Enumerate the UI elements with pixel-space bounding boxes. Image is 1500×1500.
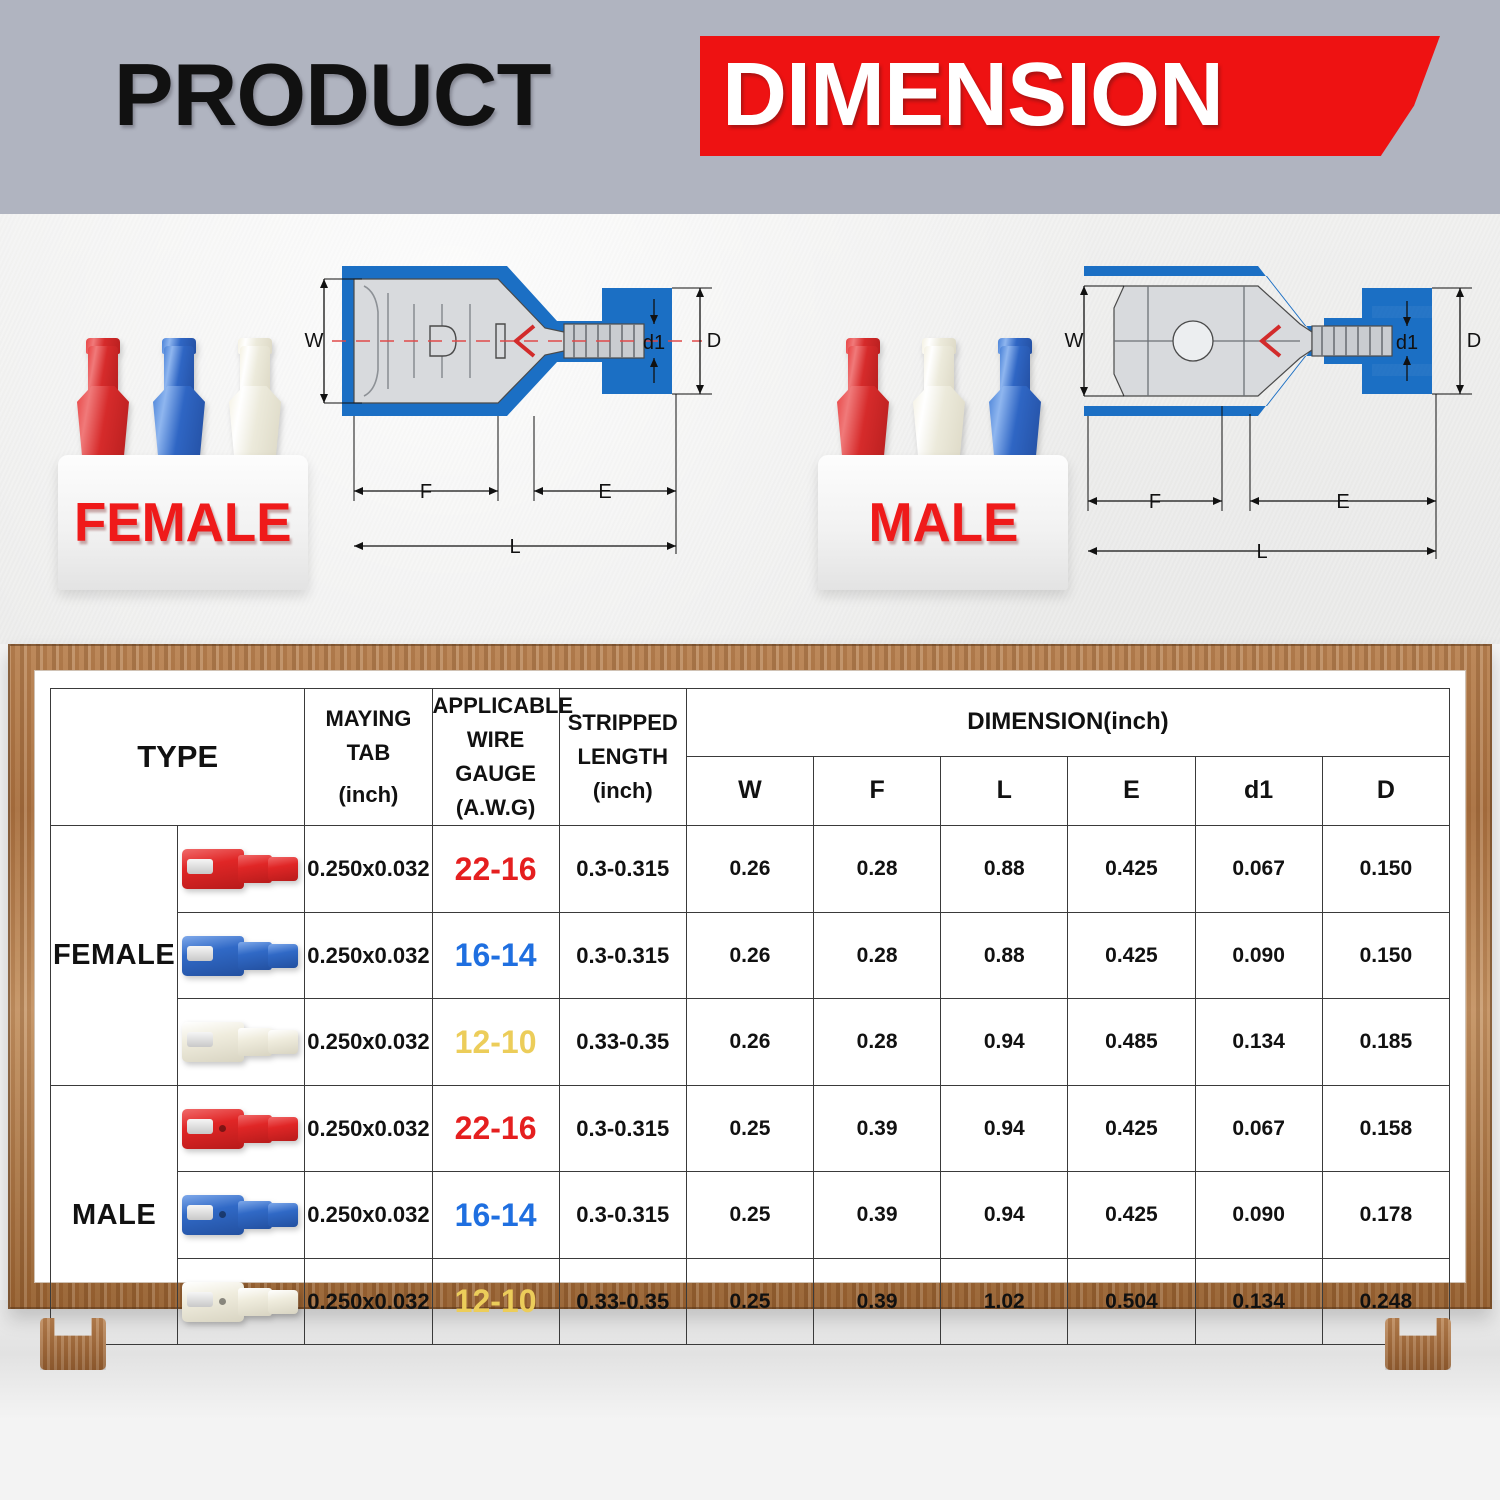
cell-wire-gauge: 12-10 — [432, 999, 559, 1086]
group-label-male: MALE — [51, 1085, 178, 1345]
female-pedestal: FEMALE — [58, 455, 308, 590]
frame-inner-mat: TYPE MAYING TAB (inch) APPLICABLE WIRE G… — [34, 670, 1466, 1283]
cell-maying-tab: 0.250x0.032 — [305, 1258, 432, 1345]
table-body: FEMALE0.250x0.03222-160.3-0.3150.260.280… — [51, 826, 1450, 1345]
cell-dim-w: 0.26 — [686, 912, 813, 999]
connector-thumbnail-blue — [178, 1172, 305, 1259]
header-sub-d: D — [1322, 756, 1449, 826]
connector-thumbnail-red — [178, 826, 305, 913]
svg-text:L: L — [1256, 541, 1267, 563]
header-sub-w: W — [686, 756, 813, 826]
cell-dim-l: 0.94 — [941, 999, 1068, 1086]
male-connector-red — [835, 340, 891, 458]
cell-wire-gauge: 22-16 — [432, 826, 559, 913]
header-dimension-group: DIMENSION(inch) — [686, 689, 1449, 757]
connector-thumbnail-blue — [178, 912, 305, 999]
header-stripped-line3: (inch) — [560, 774, 686, 808]
header-stripped-length: STRIPPED LENGTH (inch) — [559, 689, 686, 826]
header-maying-tab-line1: MAYING TAB — [305, 702, 431, 770]
cell-dim-e: 0.425 — [1068, 912, 1195, 999]
header-stripped-line2: LENGTH — [560, 740, 686, 774]
cell-maying-tab: 0.250x0.032 — [305, 1085, 432, 1172]
cell-stripped-length: 0.33-0.35 — [559, 999, 686, 1086]
cell-dim-w: 0.25 — [686, 1085, 813, 1172]
cell-wire-gauge: 12-10 — [432, 1258, 559, 1345]
dimension-table: TYPE MAYING TAB (inch) APPLICABLE WIRE G… — [50, 688, 1450, 1345]
cell-dim-d1: 0.134 — [1195, 999, 1322, 1086]
svg-text:D: D — [1467, 330, 1481, 352]
cell-dim-d: 0.178 — [1322, 1172, 1449, 1259]
cell-maying-tab: 0.250x0.032 — [305, 826, 432, 913]
header-wire-gauge-line3: (A.W.G) — [433, 791, 559, 825]
svg-text:L: L — [509, 536, 520, 558]
male-pedestal-label: MALE — [868, 491, 1018, 554]
cell-dim-w: 0.25 — [686, 1258, 813, 1345]
cell-dim-d: 0.185 — [1322, 999, 1449, 1086]
wooden-frame: TYPE MAYING TAB (inch) APPLICABLE WIRE G… — [8, 644, 1492, 1309]
cell-dim-d: 0.150 — [1322, 826, 1449, 913]
cell-stripped-length: 0.33-0.35 — [559, 1258, 686, 1345]
cell-dim-d: 0.150 — [1322, 912, 1449, 999]
header-sub-f: F — [814, 756, 941, 826]
header-maying-tab: MAYING TAB (inch) — [305, 689, 432, 826]
cell-dim-f: 0.28 — [814, 999, 941, 1086]
male-pedestal: MALE — [818, 455, 1068, 590]
cell-dim-d1: 0.090 — [1195, 912, 1322, 999]
cell-maying-tab: 0.250x0.032 — [305, 1172, 432, 1259]
header-sub-l: L — [941, 756, 1068, 826]
header-maying-tab-line2: (inch) — [305, 778, 431, 812]
cell-maying-tab: 0.250x0.032 — [305, 999, 432, 1086]
cell-stripped-length: 0.3-0.315 — [559, 1172, 686, 1259]
header-type: TYPE — [51, 689, 305, 826]
svg-text:D: D — [707, 330, 721, 352]
cell-dim-f: 0.39 — [814, 1085, 941, 1172]
cell-stripped-length: 0.3-0.315 — [559, 826, 686, 913]
cell-dim-f: 0.39 — [814, 1258, 941, 1345]
cell-dim-e: 0.425 — [1068, 1172, 1195, 1259]
product-dimension-infographic: PRODUCT DIMENSION FEMALE — [0, 0, 1500, 1500]
page-title-product: PRODUCT — [114, 44, 551, 146]
cell-stripped-length: 0.3-0.315 — [559, 912, 686, 999]
header-row-primary: TYPE MAYING TAB (inch) APPLICABLE WIRE G… — [51, 689, 1450, 757]
page-title-dimension: DIMENSION — [722, 44, 1223, 147]
male-connector-blue — [987, 340, 1043, 458]
header-wire-gauge: APPLICABLE WIRE GAUGE (A.W.G) — [432, 689, 559, 826]
cell-dim-w: 0.26 — [686, 999, 813, 1086]
male-connector-ivory — [911, 340, 967, 458]
table-row: FEMALE0.250x0.03222-160.3-0.3150.260.280… — [51, 826, 1450, 913]
svg-text:F: F — [420, 481, 432, 503]
header-banner: PRODUCT DIMENSION — [0, 0, 1500, 214]
svg-text:W: W — [1065, 330, 1084, 352]
cell-dim-w: 0.25 — [686, 1172, 813, 1259]
cell-dim-d1: 0.090 — [1195, 1172, 1322, 1259]
table-row: MALE0.250x0.03222-160.3-0.3150.250.390.9… — [51, 1085, 1450, 1172]
table-row: 0.250x0.03212-100.33-0.350.250.391.020.5… — [51, 1258, 1450, 1345]
header-stripped-line1: STRIPPED — [560, 706, 686, 740]
svg-text:E: E — [598, 481, 611, 503]
cell-dim-f: 0.28 — [814, 826, 941, 913]
cell-dim-d1: 0.067 — [1195, 826, 1322, 913]
cell-wire-gauge: 16-14 — [432, 1172, 559, 1259]
svg-text:F: F — [1149, 491, 1161, 513]
svg-text:d1: d1 — [1396, 332, 1418, 354]
header-sub-d1: d1 — [1195, 756, 1322, 826]
svg-text:E: E — [1336, 491, 1349, 513]
cell-dim-l: 0.94 — [941, 1172, 1068, 1259]
male-dimension-diagram: W d1 D F — [1062, 246, 1492, 596]
male-showcase-panel: MALE — [780, 230, 1500, 620]
cell-dim-e: 0.425 — [1068, 826, 1195, 913]
connector-thumbnail-ivory — [178, 1258, 305, 1345]
group-label-female: FEMALE — [51, 826, 178, 1086]
male-connector-group — [835, 340, 1043, 458]
cell-wire-gauge: 16-14 — [432, 912, 559, 999]
cell-dim-l: 1.02 — [941, 1258, 1068, 1345]
header-wire-gauge-line2: WIRE GAUGE — [433, 723, 559, 791]
cell-dim-l: 0.88 — [941, 826, 1068, 913]
cell-dim-f: 0.28 — [814, 912, 941, 999]
cell-dim-e: 0.485 — [1068, 999, 1195, 1086]
header-sub-e: E — [1068, 756, 1195, 826]
cell-dim-f: 0.39 — [814, 1172, 941, 1259]
table-header: TYPE MAYING TAB (inch) APPLICABLE WIRE G… — [51, 689, 1450, 826]
cell-dim-l: 0.94 — [941, 1085, 1068, 1172]
female-connector-ivory — [227, 340, 283, 458]
cell-dim-e: 0.504 — [1068, 1258, 1195, 1345]
table-row: 0.250x0.03212-100.33-0.350.260.280.940.4… — [51, 999, 1450, 1086]
female-connector-red — [75, 340, 131, 458]
cell-wire-gauge: 22-16 — [432, 1085, 559, 1172]
connector-thumbnail-ivory — [178, 999, 305, 1086]
female-connector-blue — [151, 340, 207, 458]
cell-dim-d1: 0.134 — [1195, 1258, 1322, 1345]
connector-thumbnail-red — [178, 1085, 305, 1172]
cell-dim-d1: 0.067 — [1195, 1085, 1322, 1172]
header-wire-gauge-line1: APPLICABLE — [433, 689, 559, 723]
svg-text:d1: d1 — [643, 332, 665, 354]
female-showcase-panel: FEMALE — [20, 230, 740, 620]
female-dimension-diagram: W d1 D F — [302, 246, 732, 596]
cell-dim-d: 0.158 — [1322, 1085, 1449, 1172]
table-row: 0.250x0.03216-140.3-0.3150.260.280.880.4… — [51, 912, 1450, 999]
cell-dim-w: 0.26 — [686, 826, 813, 913]
dimension-banner: DIMENSION — [700, 36, 1440, 156]
svg-text:W: W — [305, 330, 324, 352]
cell-stripped-length: 0.3-0.315 — [559, 1085, 686, 1172]
female-connector-group — [75, 340, 283, 458]
cell-maying-tab: 0.250x0.032 — [305, 912, 432, 999]
female-pedestal-label: FEMALE — [74, 491, 292, 554]
table-row: 0.250x0.03216-140.3-0.3150.250.390.940.4… — [51, 1172, 1450, 1259]
cell-dim-l: 0.88 — [941, 912, 1068, 999]
cell-dim-e: 0.425 — [1068, 1085, 1195, 1172]
